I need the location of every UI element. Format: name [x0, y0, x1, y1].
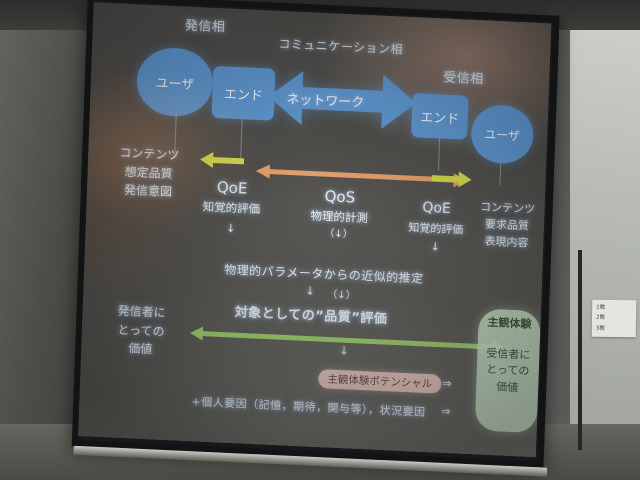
connector-end-right [438, 138, 440, 170]
sender-value-block: 発信者に とっての 価値 [95, 301, 187, 361]
qoe-right-arrow-yellow [431, 170, 472, 188]
node-user-left-label: ユーザ [155, 72, 194, 93]
projector-screen: 発信相 コミュニケーション相 受信相 ユーザ エンド ネットワーク エンド ユー… [71, 0, 559, 480]
room-sign-line-2: 2教 [596, 313, 634, 324]
connector-user-right [499, 163, 501, 185]
qos-center-block: QoS 物理的計測 （↓） [283, 183, 395, 245]
phase-label-sender: 発信相 [185, 15, 226, 36]
qoe-left-block: QoE 知覚的評価 ↓ [189, 175, 273, 239]
right-column-line-3: 表現内容 [473, 232, 540, 252]
photo-scene: 1教 2教 3教 発信相 コミュニケーション相 受信相 ユーザ エンド ネットワ… [0, 0, 640, 480]
node-end-left[interactable]: エンド [212, 66, 276, 121]
node-user-left[interactable]: ユーザ [136, 46, 214, 117]
node-user-right-label: ユーザ [484, 125, 520, 144]
qoe-left-down-arrow: ↓ [189, 218, 272, 239]
individual-factors-line: +個人要因（記憶，期待，関与等），状況要因 [191, 393, 426, 420]
qoe-right-down-arrow: ↓ [395, 236, 476, 257]
node-user-right[interactable]: ユーザ [470, 104, 534, 165]
potential-implication-arrow: ⇒ [442, 377, 452, 390]
estimation-paren-arrow: （↓） [327, 285, 356, 301]
qoe-left-sub: 知覚的評価 [190, 198, 273, 220]
right-column-content: コンテンツ 要求品質 表現内容 [473, 198, 541, 252]
phase-label-communication: コミュニケーション相 [278, 35, 403, 58]
room-sign-line-1: 1教 [596, 303, 634, 314]
receiver-value-box: 主観体験 受信者に とっての 価値 [475, 308, 541, 433]
qoe-right-sub: 知覚的評価 [396, 218, 477, 239]
left-column-line-1: コンテンツ [106, 143, 193, 166]
node-end-left-label: エンド [224, 83, 264, 104]
estimation-down-arrow: ↓ [305, 284, 315, 297]
qoe-right-block: QoE 知覚的評価 ↓ [395, 196, 477, 256]
projected-slide: 発信相 コミュニケーション相 受信相 ユーザ エンド ネットワーク エンド ユー… [78, 2, 551, 457]
network-label: ネットワーク [286, 88, 365, 111]
factors-implication-arrow: ⇒ [441, 405, 451, 418]
left-column-content: コンテンツ 想定品質 発信意図 [105, 143, 193, 203]
room-sign-line-3: 3教 [596, 324, 634, 335]
phase-label-receiver: 受信相 [443, 67, 484, 88]
door-frame-edge [578, 250, 582, 450]
sender-value-line-3: 価値 [95, 338, 186, 361]
qoe-left-arrow-yellow [200, 151, 245, 169]
estimation-line: 物理的パラメータからの近似的推定 [224, 261, 424, 287]
node-end-right-label: エンド [420, 106, 460, 127]
node-end-right[interactable]: エンド [411, 93, 469, 140]
receiver-value-line-2: とっての [477, 361, 540, 380]
receiver-value-heading: 主観体験 [478, 314, 541, 333]
room-direction-sign: 1教 2教 3教 [592, 300, 637, 338]
subjective-experience-potential-pill: 主観体験ポテンシャル [318, 369, 442, 394]
left-column-line-3: 発信意図 [105, 180, 192, 203]
quality-evaluation-line: 対象としての”品質”評価 [234, 301, 387, 327]
receiver-value-line-3: 価値 [476, 378, 539, 397]
quality-down-arrow: ↓ [339, 344, 349, 357]
